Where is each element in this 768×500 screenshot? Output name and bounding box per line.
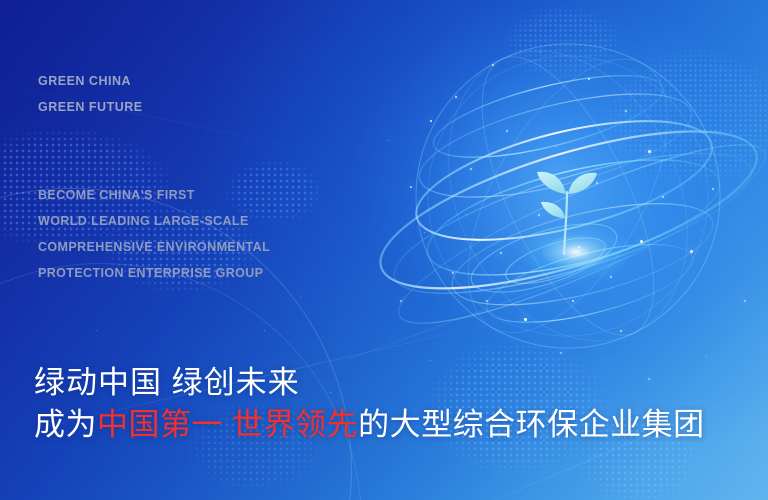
- particle-dot: [572, 300, 574, 302]
- particle-dot: [506, 130, 508, 132]
- particle-dot: [492, 64, 494, 66]
- globe-core-glow: [516, 222, 636, 282]
- globe-glow: [400, 40, 740, 360]
- particle-dot: [524, 318, 527, 321]
- particle-dot: [264, 330, 265, 331]
- tagline-top-line-1: GREEN CHINA: [38, 68, 143, 94]
- headline-line-2-accent: 中国第一 世界领先: [97, 407, 358, 442]
- tagline-mission: BECOME CHINA'S FIRST WORLD LEADING LARGE…: [38, 182, 270, 286]
- particle-dot: [662, 196, 664, 198]
- particle-dot: [730, 132, 731, 133]
- light-streak: [27, 314, 534, 432]
- particle-dot: [300, 296, 301, 297]
- particle-dot: [388, 140, 389, 141]
- particle-dot: [648, 150, 651, 153]
- particle-dot: [466, 214, 467, 215]
- particle-dot: [188, 368, 190, 370]
- particle-dot: [400, 300, 402, 302]
- headline: 绿动中国 绿创未来 成为中国第一 世界领先的大型综合环保企业集团: [34, 362, 705, 446]
- particle-dot: [578, 246, 580, 248]
- dotted-world-map-icon: [458, 0, 768, 238]
- particle-dot: [430, 360, 431, 361]
- dotted-world-map-icon: [0, 130, 320, 335]
- particle-dot: [744, 300, 746, 302]
- dotted-world-map-icon: [140, 380, 370, 500]
- headline-line-2: 成为中国第一 世界领先的大型综合环保企业集团: [34, 404, 705, 446]
- particle-dot: [588, 78, 590, 80]
- tagline-mission-line-1: BECOME CHINA'S FIRST: [38, 182, 270, 208]
- particle-dot: [556, 146, 557, 147]
- particle-dot: [452, 272, 454, 274]
- particle-dot: [470, 168, 472, 170]
- particle-dot: [625, 110, 627, 112]
- particle-dot: [648, 378, 650, 380]
- particle-dot: [410, 186, 412, 188]
- headline-line-1: 绿动中国 绿创未来: [34, 362, 705, 404]
- decorative-arc: [0, 188, 352, 500]
- dotted-world-map-icon: [388, 320, 728, 500]
- tagline-top: GREEN CHINA GREEN FUTURE: [38, 68, 143, 120]
- particle-dot: [706, 356, 707, 357]
- particle-dot: [424, 232, 425, 233]
- wireframe-globe-icon: [372, 18, 768, 378]
- particle-dot: [540, 52, 541, 53]
- particle-dot: [96, 330, 97, 331]
- tagline-mission-line-3: COMPREHENSIVE ENVIRONMENTAL: [38, 234, 270, 260]
- tagline-top-line-2: GREEN FUTURE: [38, 94, 143, 120]
- particle-dot: [486, 300, 488, 302]
- particle-dot: [712, 188, 714, 190]
- light-streak: [434, 385, 766, 500]
- particle-dot: [430, 120, 432, 122]
- particle-dot: [640, 240, 643, 243]
- particle-dot: [560, 352, 562, 354]
- particle-dot: [455, 96, 457, 98]
- particle-dot: [500, 252, 502, 254]
- light-streak: [0, 76, 376, 164]
- headline-line-2-suffix: 的大型综合环保企业集团: [358, 407, 705, 442]
- particle-dot: [620, 330, 622, 332]
- particle-dot: [690, 250, 693, 253]
- particle-dot: [596, 182, 598, 184]
- seedling-sprout-icon: [524, 160, 610, 260]
- light-streak: [266, 211, 755, 390]
- particle-dot: [610, 276, 612, 278]
- hero-banner: GREEN CHINA GREEN FUTURE BECOME CHINA'S …: [0, 0, 768, 500]
- particle-dot: [330, 392, 331, 393]
- tagline-mission-line-2: WORLD LEADING LARGE-SCALE: [38, 208, 270, 234]
- headline-line-2-prefix: 成为: [34, 407, 97, 442]
- particle-dot: [538, 214, 540, 216]
- decorative-arc: [0, 263, 362, 500]
- tagline-mission-line-4: PROTECTION ENTERPRISE GROUP: [38, 260, 270, 286]
